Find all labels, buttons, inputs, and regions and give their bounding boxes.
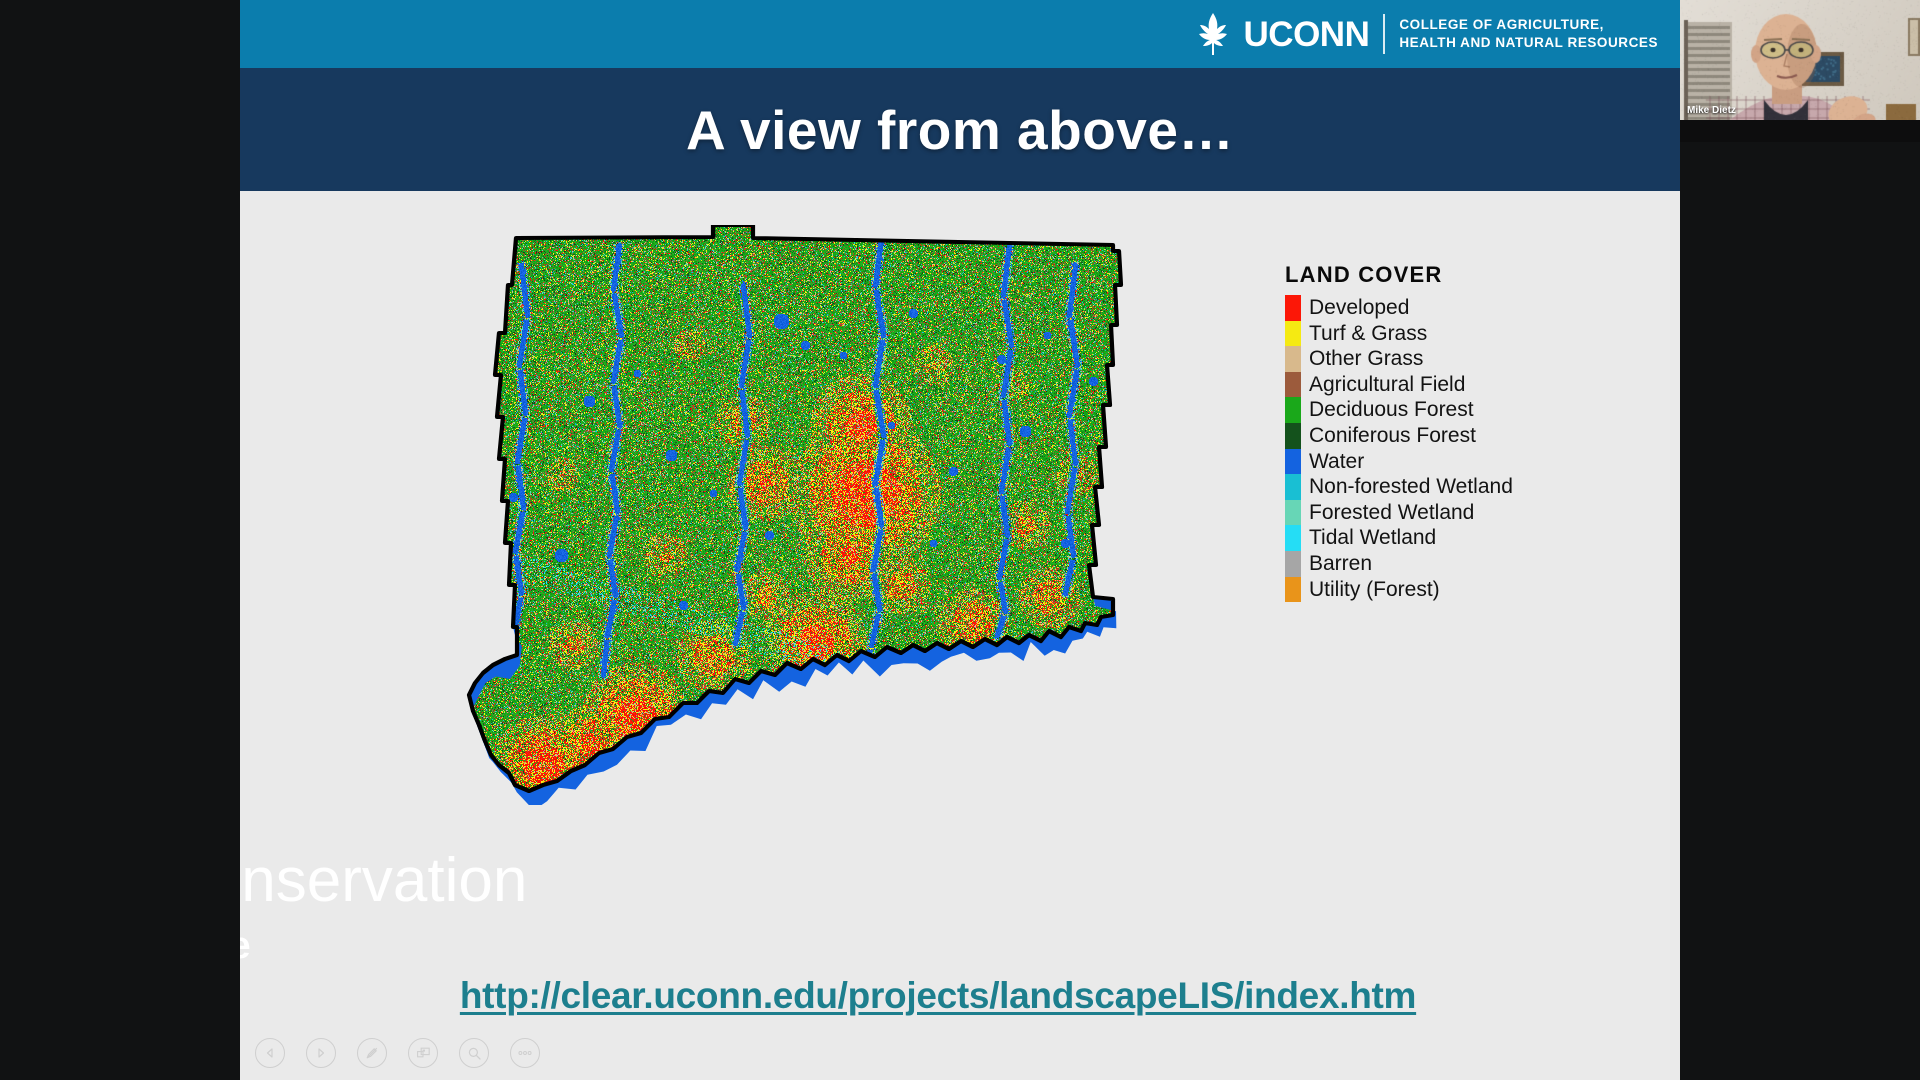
webcam-bottom-bar bbox=[1680, 120, 1920, 142]
legend-swatch bbox=[1285, 346, 1301, 372]
legend-swatch bbox=[1285, 551, 1301, 577]
uconn-college-name: COLLEGE OF AGRICULTURE, HEALTH AND NATUR… bbox=[1399, 16, 1658, 52]
legend-swatch bbox=[1285, 295, 1301, 321]
legend-swatch bbox=[1285, 525, 1301, 551]
legend-label: Barren bbox=[1309, 551, 1513, 577]
legend-label: Coniferous Forest bbox=[1309, 423, 1513, 449]
legend-label: Utility (Forest) bbox=[1309, 577, 1513, 603]
legend-swatch bbox=[1285, 397, 1301, 423]
presentation-slide: UCONN COLLEGE OF AGRICULTURE, HEALTH AND… bbox=[240, 0, 1680, 1080]
participant-video-tile[interactable]: Mike Dietz bbox=[1680, 0, 1920, 142]
legend-swatch bbox=[1285, 321, 1301, 347]
background-subheading: June bbox=[240, 925, 251, 968]
legend-swatch bbox=[1285, 474, 1301, 500]
presentation-toolbar bbox=[255, 1038, 540, 1068]
legend-label: Other Grass bbox=[1309, 346, 1513, 372]
slide-title: A view from above… bbox=[240, 68, 1680, 191]
next-slide-button[interactable] bbox=[306, 1038, 336, 1068]
legend-label: Non-forested Wetland bbox=[1309, 474, 1513, 500]
legend-swatch bbox=[1285, 577, 1301, 603]
clear-uconn-link[interactable]: http://clear.uconn.edu/projects/landscap… bbox=[240, 975, 1658, 1017]
uconn-divider bbox=[1383, 14, 1385, 54]
legend-color-swatches bbox=[1285, 295, 1301, 602]
legend-label-list: DevelopedTurf & GrassOther GrassAgricult… bbox=[1301, 295, 1513, 602]
uconn-branding: UCONN COLLEGE OF AGRICULTURE, HEALTH AND… bbox=[1196, 6, 1658, 62]
legend-label: Tidal Wetland bbox=[1309, 525, 1513, 551]
legend-label: Developed bbox=[1309, 295, 1513, 321]
legend-label: Turf & Grass bbox=[1309, 321, 1513, 347]
ellipsis-icon bbox=[517, 1050, 533, 1056]
screen: UCONN COLLEGE OF AGRICULTURE, HEALTH AND… bbox=[0, 0, 1920, 1080]
uconn-wordmark: UCONN bbox=[1244, 17, 1370, 52]
zoom-button[interactable] bbox=[459, 1038, 489, 1068]
legend-label: Agricultural Field bbox=[1309, 372, 1513, 398]
background-heading: Conservation bbox=[240, 845, 527, 916]
legend-title: LAND COVER bbox=[1285, 262, 1645, 288]
slides-icon bbox=[416, 1046, 431, 1060]
legend-swatch bbox=[1285, 372, 1301, 398]
previous-slide-button[interactable] bbox=[255, 1038, 285, 1068]
legend-swatch bbox=[1285, 500, 1301, 526]
more-options-button[interactable] bbox=[510, 1038, 540, 1068]
legend: LAND COVER DevelopedTurf & GrassOther Gr… bbox=[1285, 262, 1645, 602]
connecticut-land-cover-map bbox=[413, 225, 1213, 805]
magnifier-icon bbox=[467, 1046, 482, 1061]
legend-label: Deciduous Forest bbox=[1309, 397, 1513, 423]
participant-name-label: Mike Dietz bbox=[1687, 105, 1736, 116]
legend-swatch bbox=[1285, 423, 1301, 449]
triangle-right-icon bbox=[315, 1047, 327, 1059]
uconn-oak-icon bbox=[1196, 12, 1230, 56]
triangle-left-icon bbox=[264, 1047, 276, 1059]
legend-label: Water bbox=[1309, 449, 1513, 475]
slides-overview-button[interactable] bbox=[408, 1038, 438, 1068]
pen-icon bbox=[364, 1045, 380, 1061]
legend-label: Forested Wetland bbox=[1309, 500, 1513, 526]
annotate-button[interactable] bbox=[357, 1038, 387, 1068]
legend-swatch bbox=[1285, 449, 1301, 475]
